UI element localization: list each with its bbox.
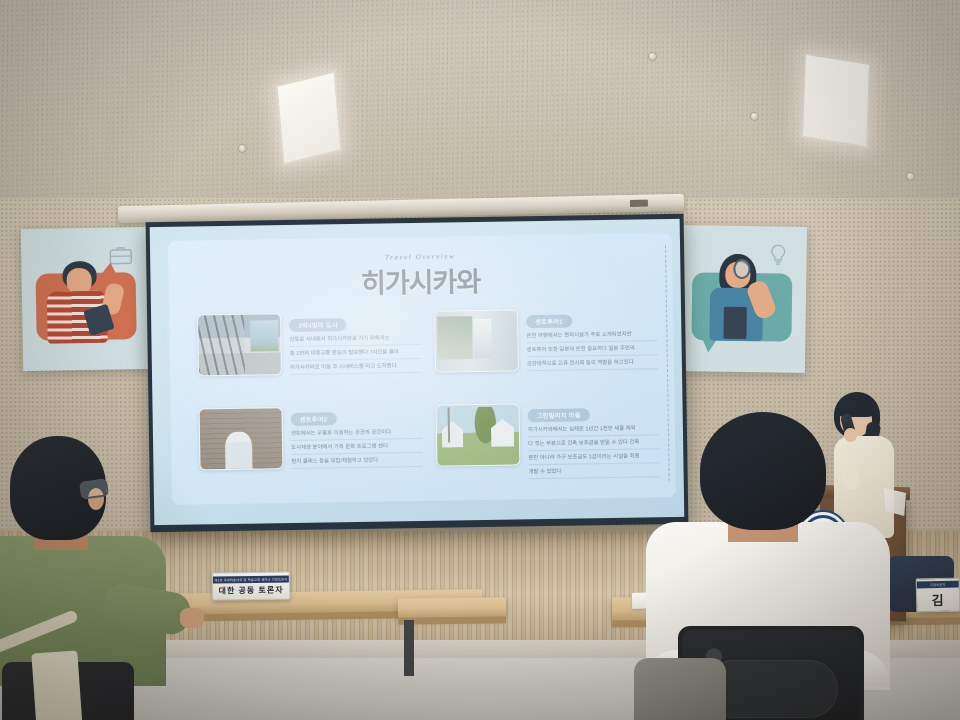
presentation-slide: Travel Overview 히가시카와 3박4일의 도시 신토로 시내에서 … xyxy=(168,233,676,505)
ceiling-light-panel xyxy=(801,52,871,148)
banner-illustration-student-magnifier xyxy=(684,232,800,366)
nameplate: 제3회 국제학술대회 및 학술교류 세미나 지정토론자 대한 공동 토론자 xyxy=(212,571,290,600)
card-line: 신토로 시내에서 히가시카와로 가기 위해서는 xyxy=(289,334,420,347)
card-line: 히가시카와로 이동 후 시내버스를 타고 도착했다 xyxy=(290,362,421,375)
card-text: 신토로 시내에서 히가시카와로 가기 위해서는 총 1번의 대중교통 환승이 필… xyxy=(289,334,421,375)
sprinkler-head xyxy=(648,52,657,61)
card-body: 센토투어2 센토에서는 우물로 이용하는 공공의 공간이다 도시재생 분야에서 … xyxy=(291,405,423,491)
slide-card-grid: 3박4일의 도시 신토로 시내에서 히가시카와로 가기 위해서는 총 1번의 대… xyxy=(197,307,660,492)
tote-bag xyxy=(31,650,82,720)
briefcase-icon xyxy=(108,242,134,268)
card-thumbnail-village xyxy=(436,403,521,466)
attendee-white-shirt xyxy=(650,412,900,720)
card-body: 3박4일의 도시 신토로 시내에서 히가시카와로 가기 위해서는 총 1번의 대… xyxy=(289,311,421,397)
slide-title: 히가시카와 xyxy=(168,257,673,304)
card-line: 센토에서는 우물로 이용하는 공공의 공간이다 xyxy=(291,428,422,441)
card-line: 개발 수 있었다 xyxy=(529,466,660,479)
backpack xyxy=(634,658,726,720)
left-wall-banner xyxy=(21,227,151,371)
table-edge xyxy=(398,616,506,624)
card-body: 센토투어1 온천 여행에서는 편의시설가 주로 소개되었지만 센토투어 또한 일… xyxy=(526,307,658,393)
card-line: 공감대적으로 교류 전시회 등의 역할을 하고있다 xyxy=(527,358,658,371)
attendee-head xyxy=(700,412,826,530)
nameplate-name: 대한 공동 토론자 xyxy=(218,583,283,597)
audience-table xyxy=(398,597,506,618)
ceiling xyxy=(0,0,960,215)
banner-illustration-student-tablet xyxy=(28,234,144,364)
card-text: 히가시카와에서는 실제로 1년간 1천만 세율 제외 다 짓는 부분으로 건축 … xyxy=(528,424,660,479)
card-line: 온천 여행에서는 편의시설가 주로 소개되었지만 xyxy=(526,330,657,343)
ceiling-light-panel xyxy=(275,70,342,166)
card-line: 총 1번의 대중교통 환승이 필요했다 7시간을 돌아 xyxy=(290,348,421,361)
village-houses-art xyxy=(437,404,520,465)
slide-card: 센토투어1 온천 여행에서는 편의시설가 주로 소개되었지만 센토투어 또한 일… xyxy=(434,307,658,394)
sprinkler-head xyxy=(238,144,247,153)
card-line: 분만 아니라 가구 보조금도 1급이라는 시설을 최종 xyxy=(528,452,659,465)
card-line: 현지 클래스 등을 모집/체험하고 있었다 xyxy=(291,456,422,469)
slide-card: 그린빌리지 마을 히가시카와에서는 실제로 1년간 1천만 세율 제외 다 짓는… xyxy=(436,401,660,488)
card-line: 히가시카와에서는 실제로 1년간 1천만 세율 제외 xyxy=(528,424,659,437)
attendee-green-shirt xyxy=(0,436,214,720)
roller-bracket xyxy=(630,200,648,207)
train-interior-art xyxy=(198,314,281,375)
screen-surface: Travel Overview 히가시카와 3박4일의 도시 신토로 시내에서 … xyxy=(150,219,685,525)
right-wall-banner xyxy=(677,225,807,373)
projection-screen: Travel Overview 히가시카와 3박4일의 도시 신토로 시내에서 … xyxy=(146,214,689,532)
card-body: 그린빌리지 마을 히가시카와에서는 실제로 1년간 1천만 세율 제외 다 짓는… xyxy=(527,401,659,487)
card-badge: 그린빌리지 마을 xyxy=(528,408,590,422)
table-leg xyxy=(404,620,414,676)
corridor-interior-art xyxy=(435,310,518,371)
slide-card: 3박4일의 도시 신토로 시내에서 히가시카와로 가기 위해서는 총 1번의 대… xyxy=(197,311,421,398)
card-line: 다 짓는 부분으로 건축 보조금을 받을 수 있다 건축 xyxy=(528,438,659,451)
card-badge: 센토투어2 xyxy=(291,412,337,426)
sprinkler-head xyxy=(906,172,915,181)
lecture-hall-scene: Travel Overview 히가시카와 3박4일의 도시 신토로 시내에서 … xyxy=(0,0,960,720)
card-text: 센토에서는 우물로 이용하는 공공의 공간이다 도시재생 분야에서 가족 문화 … xyxy=(291,428,423,469)
card-badge: 센토투어1 xyxy=(526,315,572,329)
tree xyxy=(473,407,498,447)
nameplate-name: 김 xyxy=(931,588,944,609)
card-thumbnail-train-interior xyxy=(197,313,282,376)
card-line: 센토투어 또한 일본의 온천 중요하다 일본 주민의 xyxy=(527,344,658,357)
utility-pole xyxy=(448,408,451,443)
illustration-book xyxy=(723,307,746,339)
lightbulb-icon xyxy=(765,241,790,268)
attendee-hand xyxy=(180,608,204,628)
sprinkler-head xyxy=(750,112,759,121)
card-thumbnail-corridor xyxy=(434,309,519,372)
card-badge: 3박4일의 도시 xyxy=(289,318,347,332)
nameplate: 지정토론자 김 xyxy=(916,578,960,613)
card-text: 온천 여행에서는 편의시설가 주로 소개되었지만 센토투어 또한 일본의 온천 … xyxy=(526,330,658,371)
slide-card: 센토투어2 센토에서는 우물로 이용하는 공공의 공간이다 도시재생 분야에서 … xyxy=(199,405,423,492)
card-line: 도시재생 분야에서 가족 문화 프로그램 센터 xyxy=(291,442,422,455)
